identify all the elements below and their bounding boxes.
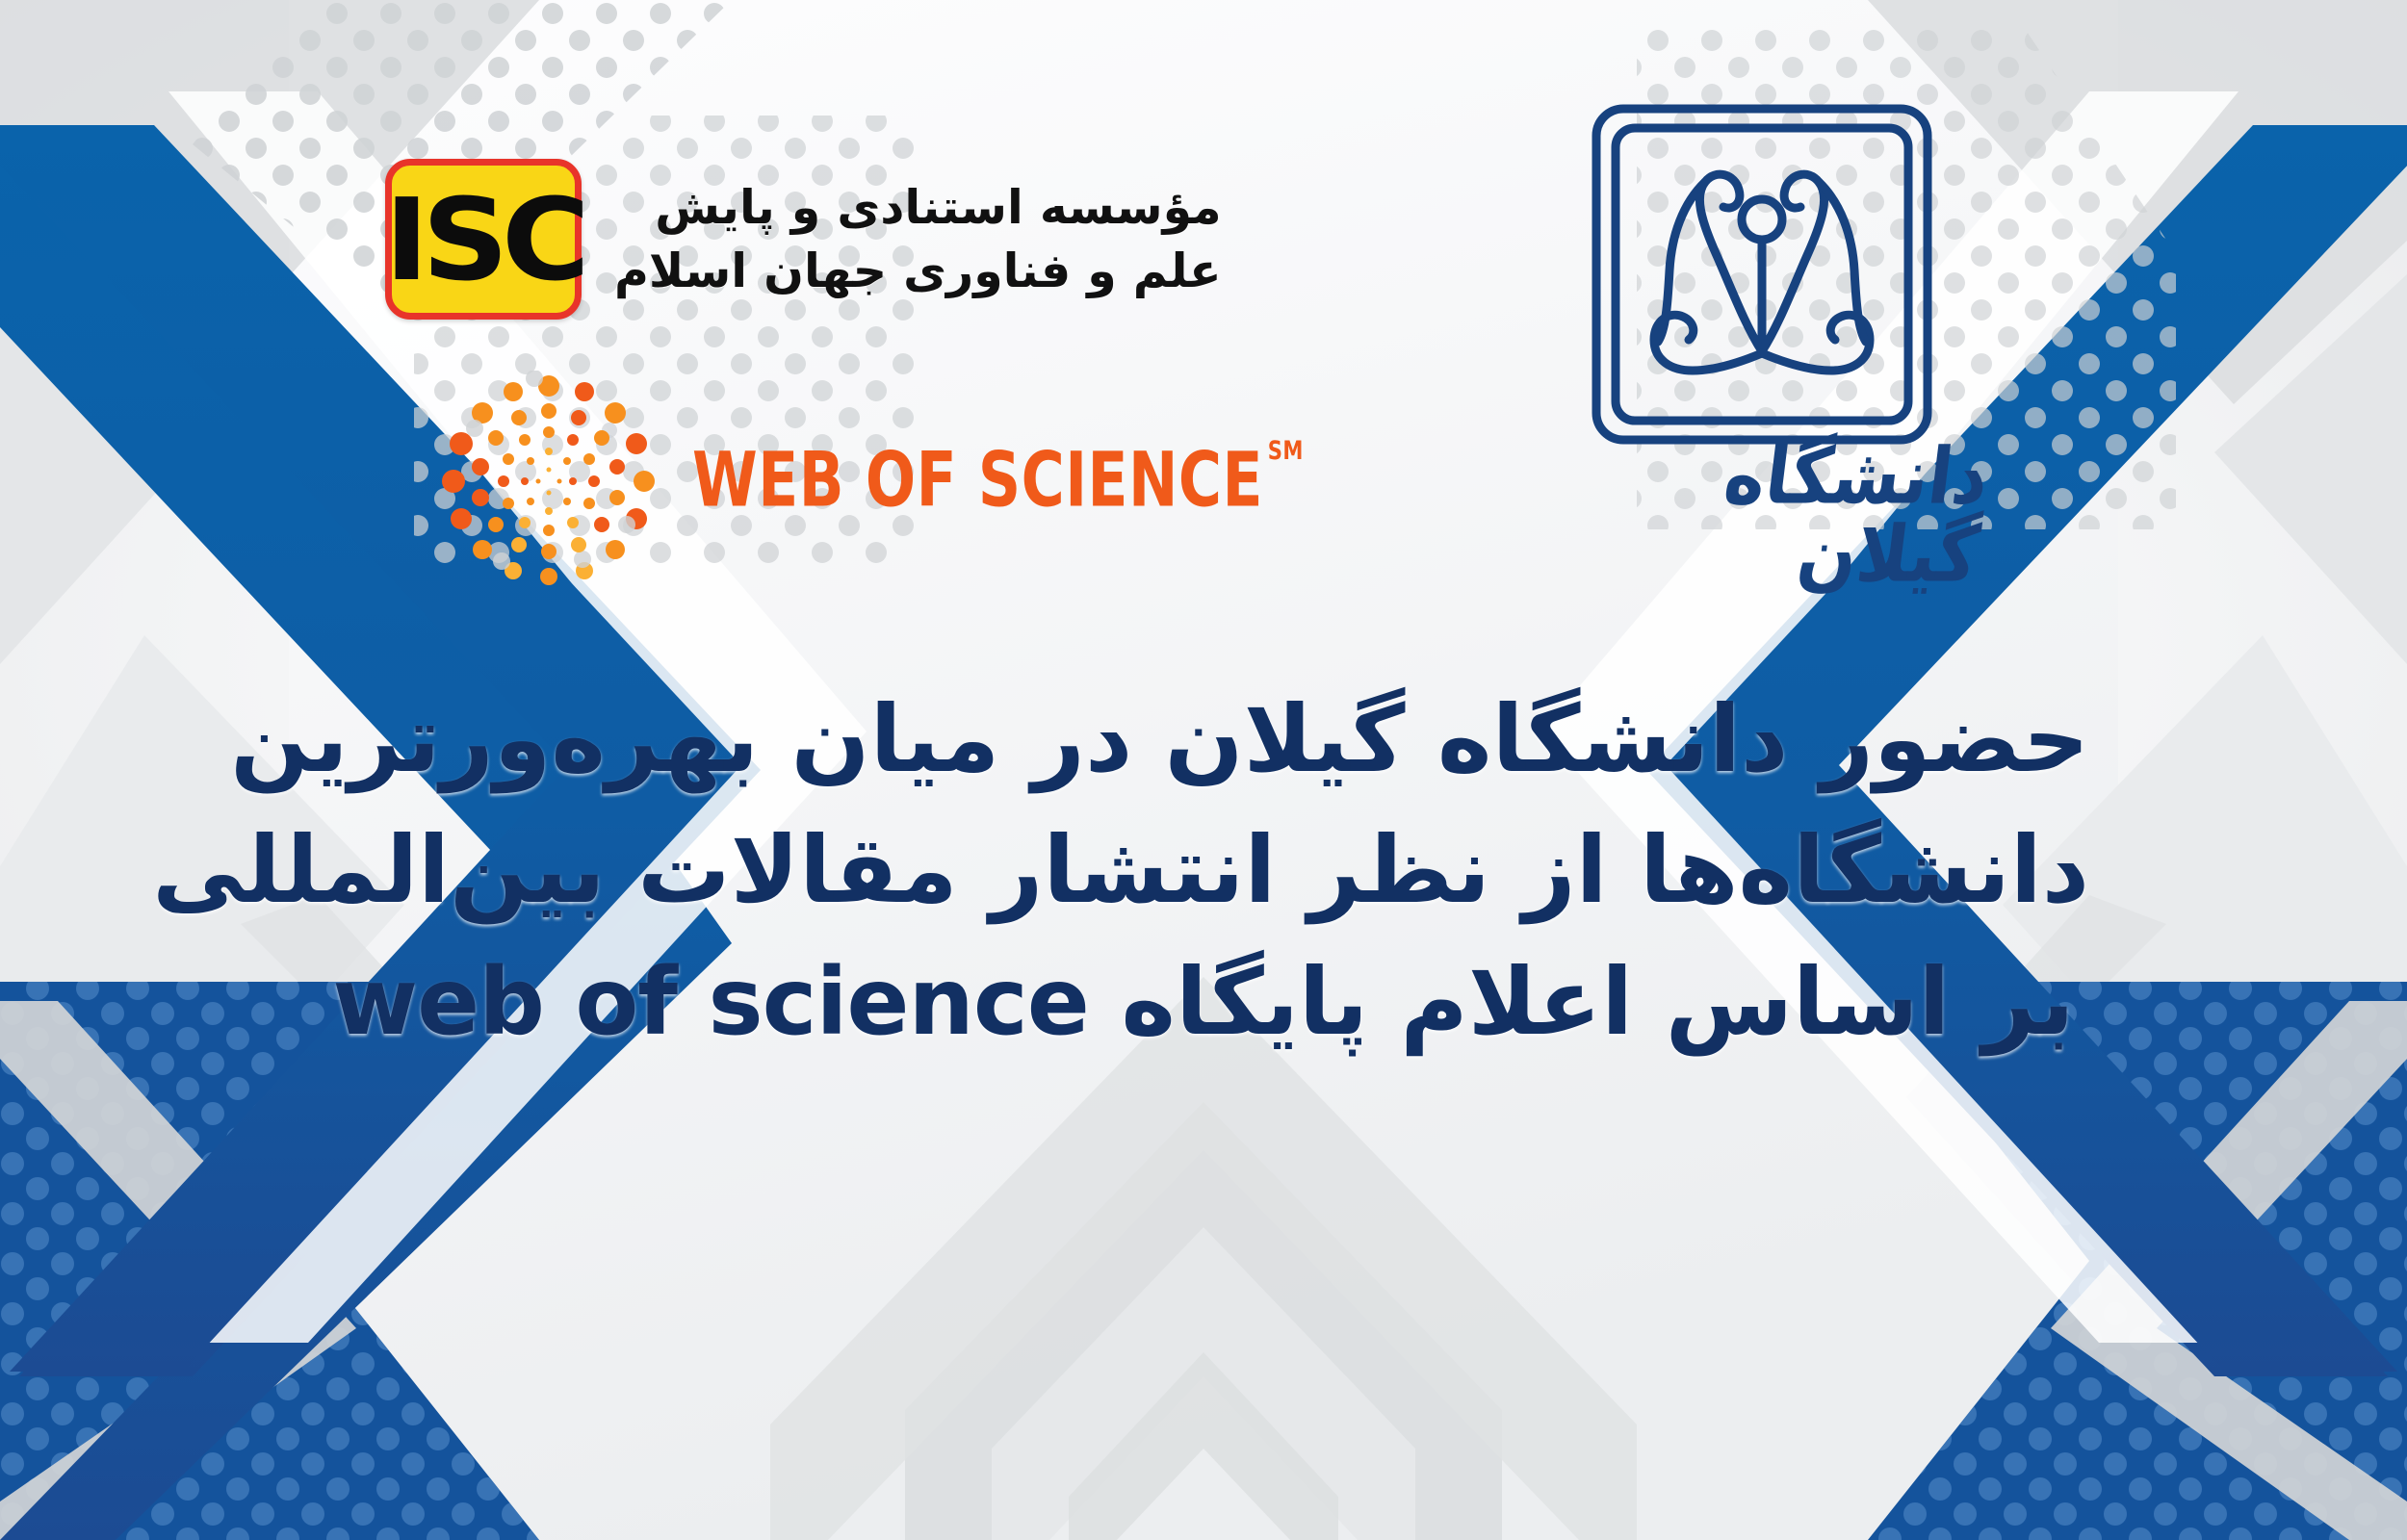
headline-line-3: بر اساس اعلام پایگاه web of science <box>318 937 2089 1067</box>
isc-caption-line2: علم و فناوری جهان اسلام <box>614 240 1222 303</box>
headline-line-2: دانشگاه‌ها از نظر انتشار مقالات بین‌المل… <box>318 805 2089 936</box>
university-of-guilan-logo[interactable]: دانشگاه گیلان <box>1540 82 1983 584</box>
guilan-emblem-icon <box>1569 82 1954 467</box>
isc-logo[interactable]: ISC مؤسسه استنادی و پایش علم و فناوری جه… <box>385 159 1222 320</box>
headline-line-1: حضور دانشگاه گیلان در میان بهره‌ورترین <box>318 674 2089 805</box>
isc-caption: مؤسسه استنادی و پایش علم و فناوری جهان ا… <box>614 176 1222 302</box>
isc-mark-text: ISC <box>384 183 582 296</box>
headline: حضور دانشگاه گیلان در میان بهره‌ورترین د… <box>0 674 2407 1067</box>
web-of-science-wordmark: WEB OF SCIENCE SM <box>692 444 1304 519</box>
web-of-science-logo[interactable]: WEB OF SCIENCE SM <box>438 371 1329 592</box>
isc-mark: ISC <box>385 159 582 320</box>
isc-caption-line1: مؤسسه استنادی و پایش <box>614 176 1222 240</box>
service-mark-text: SM <box>1268 439 1304 465</box>
guilan-name-text: دانشگاه گیلان <box>1531 437 1993 592</box>
web-of-science-dot-icon <box>438 371 660 592</box>
announcement-banner: ISC مؤسسه استنادی و پایش علم و فناوری جه… <box>0 0 2407 1540</box>
web-of-science-wordmark-text: WEB OF SCIENCE <box>692 444 1263 519</box>
